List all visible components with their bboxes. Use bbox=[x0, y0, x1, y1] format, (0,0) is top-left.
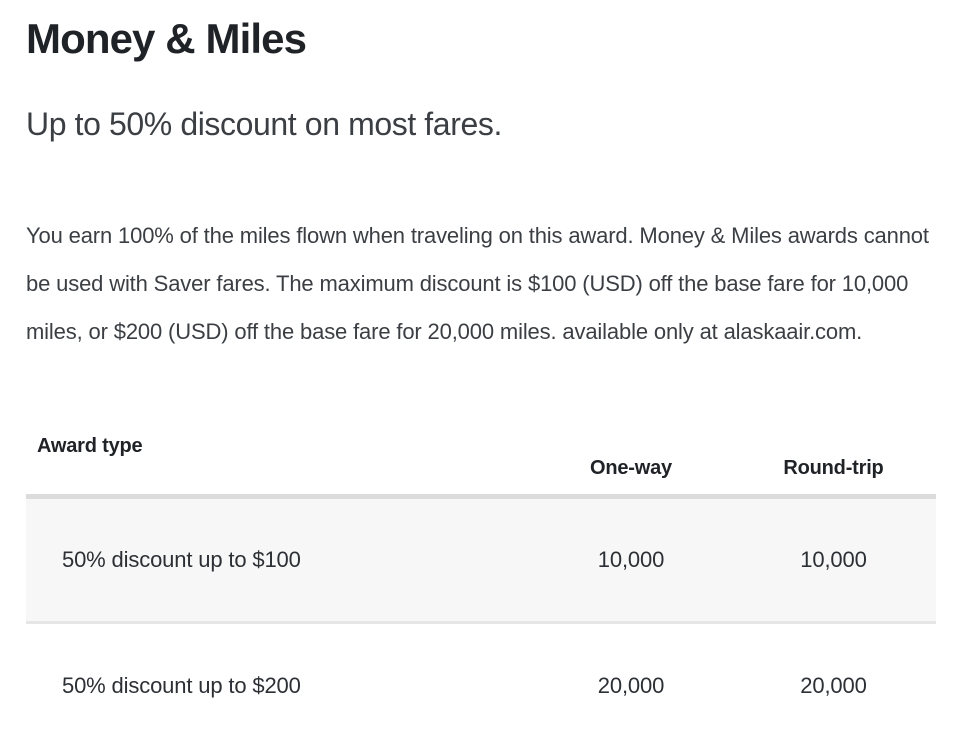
table-header: Award type One-way Round-trip bbox=[26, 430, 936, 497]
cell-round-trip: 20,000 bbox=[731, 623, 936, 749]
award-types-table: Award type One-way Round-trip 50% discou… bbox=[26, 430, 936, 749]
column-header-award-type: Award type bbox=[26, 430, 531, 497]
table-row: 50% discount up to $200 20,000 20,000 bbox=[26, 623, 936, 749]
table-header-row: Award type One-way Round-trip bbox=[26, 430, 936, 497]
page-subtitle: Up to 50% discount on most fares. bbox=[26, 103, 502, 145]
cell-one-way: 10,000 bbox=[531, 497, 731, 623]
cell-round-trip: 10,000 bbox=[731, 497, 936, 623]
column-header-one-way: One-way bbox=[531, 430, 731, 497]
column-header-round-trip: Round-trip bbox=[731, 430, 936, 497]
cell-one-way: 20,000 bbox=[531, 623, 731, 749]
page-title: Money & Miles bbox=[26, 13, 306, 65]
cell-award-type: 50% discount up to $100 bbox=[26, 497, 531, 623]
table-body: 50% discount up to $100 10,000 10,000 50… bbox=[26, 497, 936, 749]
award-info-page: Money & Miles Up to 50% discount on most… bbox=[0, 0, 964, 726]
award-description-paragraph: You earn 100% of the miles flown when tr… bbox=[26, 212, 938, 356]
table-row: 50% discount up to $100 10,000 10,000 bbox=[26, 497, 936, 623]
cell-award-type: 50% discount up to $200 bbox=[26, 623, 531, 749]
